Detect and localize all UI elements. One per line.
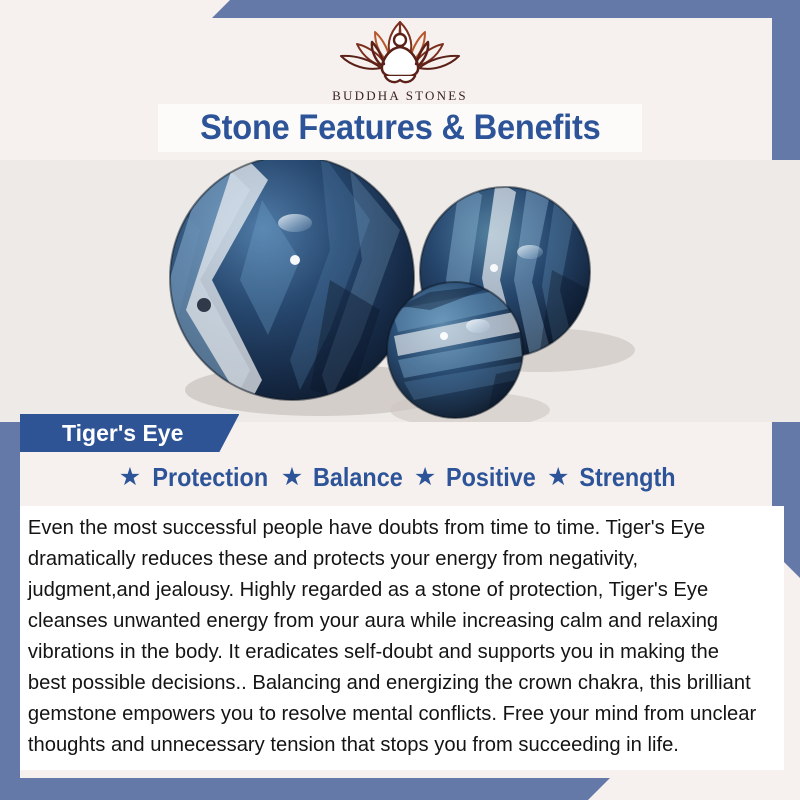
description-panel: Even the most successful people have dou… [20,506,784,770]
stone-name: Tiger's Eye [62,420,183,447]
brand-wordmark: BUDDHA STONES [0,88,800,104]
description-text: Even the most successful people have dou… [20,506,773,760]
stone-name-ribbon: Tiger's Eye [20,414,239,452]
infographic-page: BUDDHA STONES Stone Features & Benefits [0,0,800,800]
star-icon: ★ [414,465,436,490]
brand-logo: BUDDHA STONES [0,14,800,104]
page-title: Stone Features & Benefits [200,108,601,148]
benefit-item: ★ Strength [547,462,681,493]
title-banner: Stone Features & Benefits [158,104,642,152]
benefit-label: Strength [580,462,676,493]
benefits-row: ★ Protection ★ Balance ★ Positive ★ Stre… [0,462,800,493]
benefit-label: Protection [153,462,269,493]
benefit-item: ★ Positive [414,462,541,493]
benefit-label: Balance [313,462,403,493]
benefit-item: ★ Protection [119,462,275,493]
tigers-eye-spheres-illustration [0,160,800,422]
frame-bar-bottom [0,778,610,800]
lotus-meditation-icon [325,14,475,86]
benefit-item: ★ Balance [281,462,408,493]
benefit-label: Positive [446,462,536,493]
star-icon: ★ [547,465,569,490]
star-icon: ★ [281,465,303,490]
hero-stone-image [0,160,800,422]
star-icon: ★ [119,465,141,490]
